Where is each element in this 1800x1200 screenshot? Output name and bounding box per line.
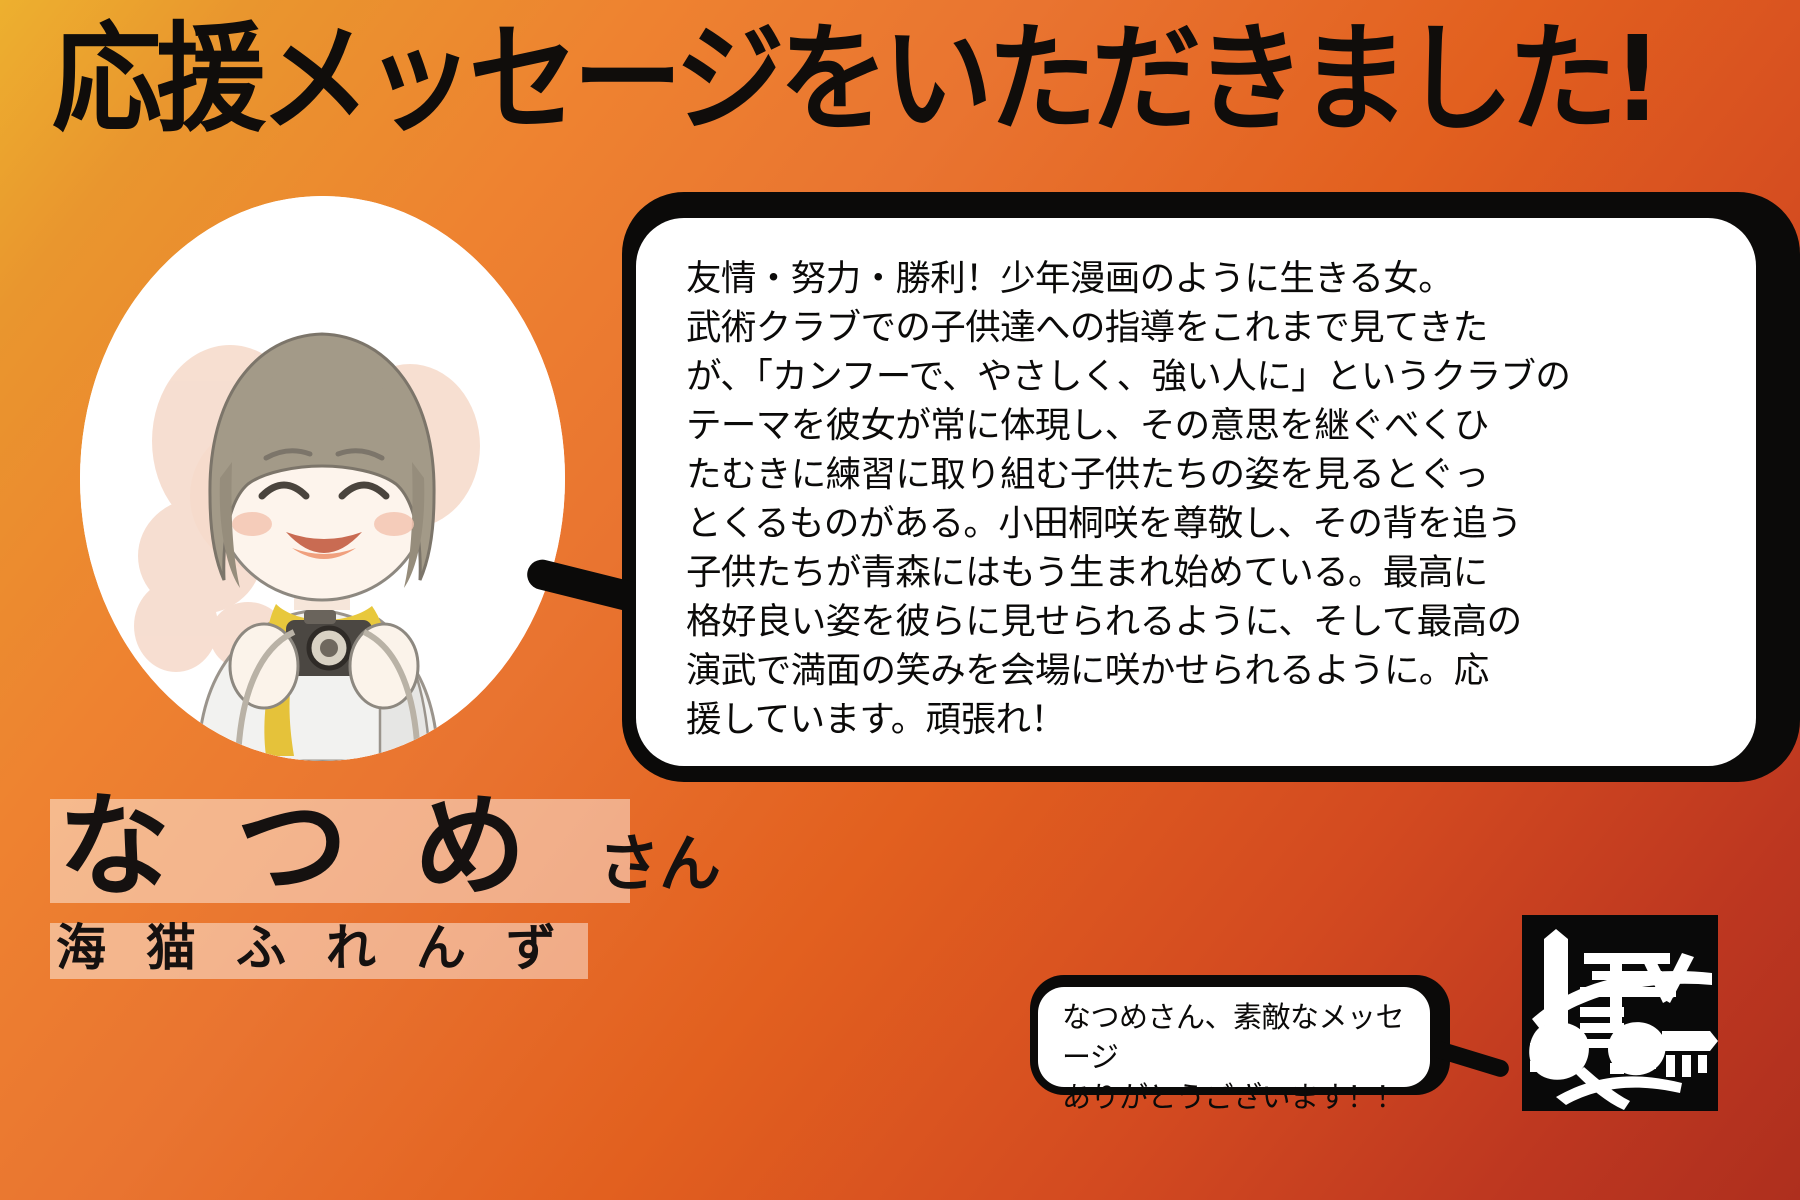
thanks-text: なつめさん、素敵なメッセージ ありがとうございます！！ xyxy=(1062,997,1410,1117)
sender-name-suffix: さん xyxy=(598,833,720,895)
message-text: 友情・努力・勝利！少年漫画のように生きる女。 武術クラブでの子供達への指導をこれ… xyxy=(686,254,1710,744)
club-logo xyxy=(1522,915,1718,1111)
support-message-poster: 応援メッセージをいただきました! xyxy=(0,0,1800,1200)
avatar-illustration xyxy=(80,196,565,761)
sender-group-row: 海猫ふれんず xyxy=(50,923,770,985)
thanks-bubble: なつめさん、素敵なメッセージ ありがとうございます！！ xyxy=(1030,975,1450,1095)
page-title: 応援メッセージをいただきました! xyxy=(52,20,1633,138)
sender-group-name: 海猫ふれんず xyxy=(56,919,596,977)
sender-name-row: なつめ さん xyxy=(50,795,770,907)
sender-name: なつめ xyxy=(58,791,592,903)
sender-name-block: なつめ さん 海猫ふれんず xyxy=(50,795,770,985)
club-logo-mark xyxy=(1522,915,1718,1111)
message-bubble: 友情・努力・勝利！少年漫画のように生きる女。 武術クラブでの子供達への指導をこれ… xyxy=(622,192,1800,782)
avatar xyxy=(80,196,565,761)
